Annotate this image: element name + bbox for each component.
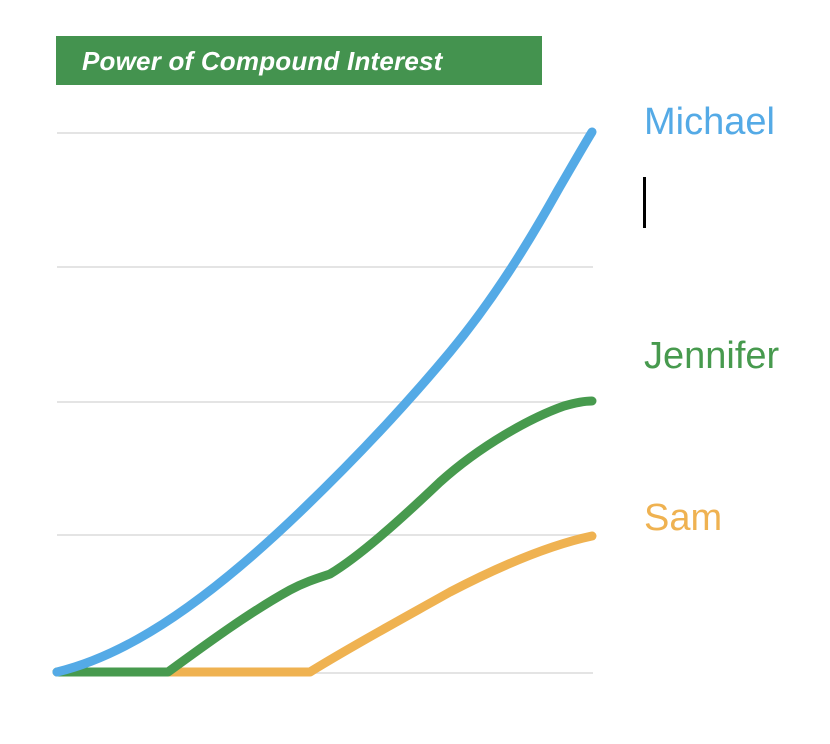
series-label-jennifer: Jennifer	[644, 337, 779, 375]
series-line-jennifer	[57, 401, 592, 672]
series-label-michael: Michael	[644, 103, 775, 141]
gridlines	[57, 133, 593, 673]
compound-interest-chart: Power of Compound Interest Michael Jenni…	[0, 0, 830, 744]
series-label-sam: Sam	[644, 499, 722, 537]
series-line-sam	[57, 536, 592, 672]
text-cursor-caret[interactable]	[643, 177, 646, 228]
